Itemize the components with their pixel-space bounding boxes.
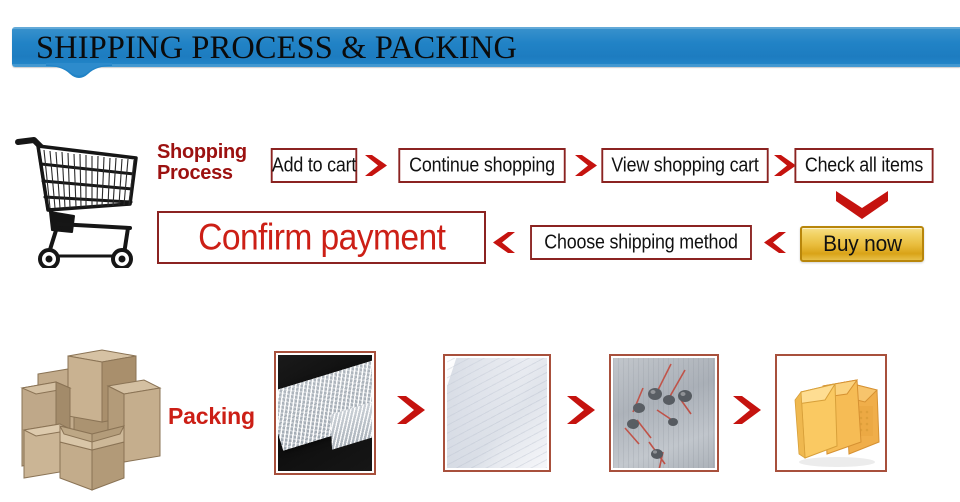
buy-now-button[interactable]: Buy now <box>800 226 924 262</box>
step-confirm-payment-label: Confirm payment <box>198 217 445 259</box>
arrow-right-icon <box>394 393 428 427</box>
step-add-to-cart[interactable]: Add to cart <box>271 148 357 183</box>
packing-photo-bubble-wrap <box>274 351 376 475</box>
packing-label: Packing <box>168 403 255 430</box>
step-continue-shopping-label: Continue shopping <box>409 155 555 175</box>
page-title: SHIPPING PROCESS & PACKING <box>36 28 517 68</box>
yellow-padded-envelopes-icon <box>779 358 883 468</box>
shopping-process-label: Shopping Process <box>157 142 265 184</box>
arrow-right-icon <box>363 153 389 178</box>
step-check-all-items[interactable]: Check all items <box>794 148 933 183</box>
packing-photo-wrapped-components <box>609 354 719 472</box>
arrow-right-icon <box>564 393 598 427</box>
buy-now-button-label: Buy now <box>823 231 902 257</box>
arrow-right-icon <box>730 393 764 427</box>
arrow-down-icon <box>833 188 891 222</box>
arrow-left-icon <box>491 230 517 255</box>
step-confirm-payment[interactable]: Confirm payment <box>157 211 486 264</box>
step-view-shopping-cart-label: View shopping cart <box>611 155 758 175</box>
arrow-right-icon <box>573 153 599 178</box>
step-add-to-cart-label: Add to cart <box>272 155 356 175</box>
banner-tab-ribbon-icon <box>46 63 112 79</box>
wrapped-components-icon <box>613 358 715 468</box>
process-label-line-1: Shopping <box>157 142 265 163</box>
step-choose-shipping-method[interactable]: Choose shipping method <box>530 225 752 260</box>
film-sheen-highlight <box>447 358 528 468</box>
step-view-shopping-cart[interactable]: View shopping cart <box>601 148 768 183</box>
process-label-line-2: Process <box>157 163 265 184</box>
step-choose-shipping-method-label: Choose shipping method <box>544 232 737 252</box>
cardboard-boxes-icon <box>8 338 173 493</box>
header-banner: SHIPPING PROCESS & PACKING <box>12 27 960 67</box>
step-check-all-items-label: Check all items <box>805 155 923 175</box>
packing-photo-plastic-film <box>443 354 551 472</box>
arrow-left-icon <box>762 230 788 255</box>
packing-photo-padded-envelopes <box>775 354 887 472</box>
step-continue-shopping[interactable]: Continue shopping <box>398 148 565 183</box>
shopping-cart-icon <box>8 128 148 268</box>
